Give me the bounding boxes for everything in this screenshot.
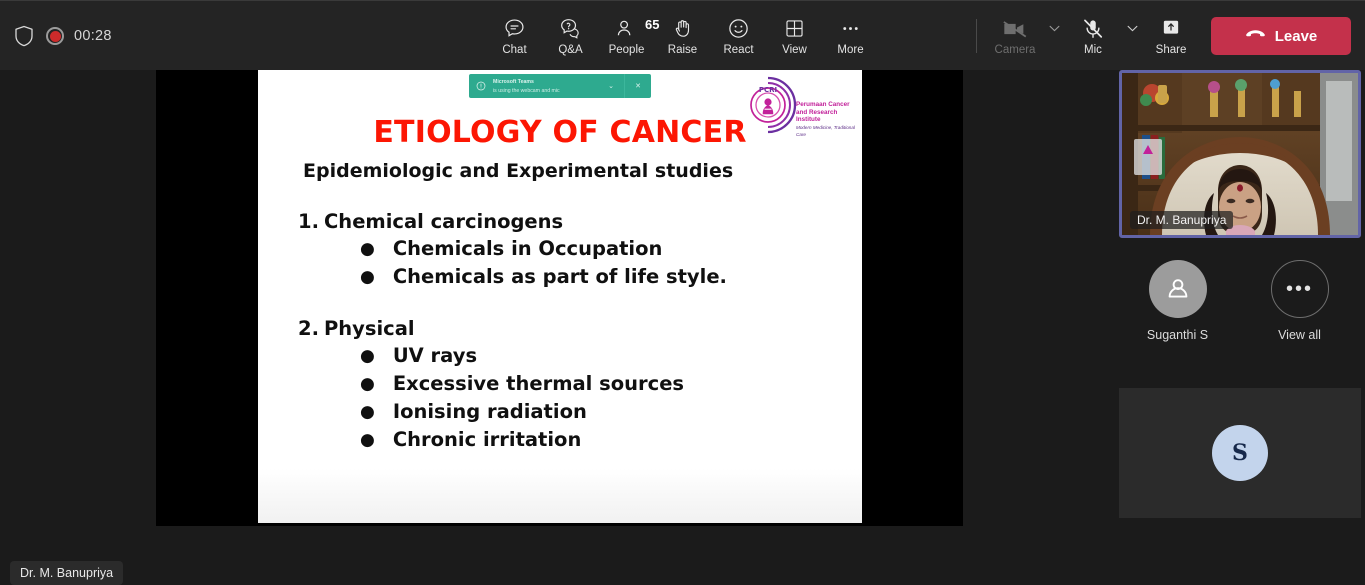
slide-body: 1. Chemical carcinogens ● Chemicals in O… — [298, 210, 838, 454]
person-icon — [1149, 260, 1207, 318]
participant-tile[interactable]: S — [1119, 388, 1361, 518]
more-label: More — [837, 44, 863, 56]
presentation-slide: Microsoft Teams is using the webcam and … — [258, 70, 862, 523]
slide-section-heading: 2. Physical — [298, 317, 838, 340]
bullet-dot-icon: ● — [360, 235, 375, 263]
grid-view-icon — [784, 17, 805, 41]
bullet-text: Chemicals as part of life style. — [393, 263, 727, 291]
mic-muted-icon — [1082, 17, 1104, 41]
people-label: People — [609, 44, 645, 56]
bullet-dot-icon: ● — [360, 398, 375, 426]
people-button[interactable]: 65 People — [599, 8, 655, 64]
question-answer-icon — [559, 17, 582, 41]
slide-bullet: ● UV rays — [360, 342, 838, 370]
slide-bullet: ● Chemicals in Occupation — [360, 235, 838, 263]
raise-hand-icon — [672, 17, 694, 41]
section-title: Chemical carcinogens — [324, 210, 563, 233]
bullet-dot-icon: ● — [360, 342, 375, 370]
share-label: Share — [1156, 44, 1187, 56]
participant-suganthi-s[interactable]: Suganthi S — [1138, 260, 1218, 360]
slide-bullet: ● Chemicals as part of life style. — [360, 263, 838, 291]
slide-bullet: ● Chronic irritation — [360, 426, 838, 454]
toolbar-left-group: 00:28 — [14, 1, 112, 71]
toast-text: Microsoft Teams is using the webcam and … — [493, 77, 598, 95]
camera-label: Camera — [995, 44, 1036, 56]
toolbar-right-group: Camera Mic — [976, 1, 1351, 71]
participant-rail: Dr. M. Banupriya Suganthi S ••• View all… — [1112, 70, 1365, 526]
teams-meeting-window: 00:28 Chat Q&A 65 Peopl — [0, 0, 1365, 526]
chat-button[interactable]: Chat — [487, 8, 543, 64]
smiley-icon — [727, 17, 750, 41]
view-all-label: View all — [1278, 328, 1321, 342]
bullet-dot-icon: ● — [360, 263, 375, 291]
mic-control: Mic — [1065, 8, 1143, 64]
hangup-icon — [1245, 27, 1266, 45]
section-number: 2. — [298, 317, 315, 340]
leave-label: Leave — [1275, 28, 1318, 45]
toast-title: Microsoft Teams — [493, 78, 598, 87]
people-icon: 65 — [615, 17, 638, 41]
camera-control: Camera — [987, 8, 1065, 64]
recording-timer: 00:28 — [74, 28, 112, 44]
section-title: Physical — [324, 317, 415, 340]
view-label: View — [782, 44, 807, 56]
slide-bullet: ● Excessive thermal sources — [360, 370, 838, 398]
camera-chevron-down-icon[interactable] — [1043, 8, 1065, 64]
shield-icon — [14, 25, 34, 47]
webcam-mic-notification-toast: Microsoft Teams is using the webcam and … — [469, 74, 651, 98]
bullet-text: Excessive thermal sources — [393, 370, 684, 398]
share-screen-icon — [1160, 17, 1182, 41]
chat-icon — [503, 17, 526, 41]
mic-button[interactable]: Mic — [1065, 8, 1121, 64]
ellipsis-icon — [839, 17, 862, 41]
bullet-text: Chemicals in Occupation — [393, 235, 663, 263]
mic-label: Mic — [1084, 44, 1102, 56]
bullet-dot-icon: ● — [360, 426, 375, 454]
section-spacer — [298, 291, 838, 317]
view-button[interactable]: View — [767, 8, 823, 64]
share-button[interactable]: Share — [1143, 8, 1199, 64]
bullet-dot-icon: ● — [360, 370, 375, 398]
qa-label: Q&A — [558, 44, 582, 56]
slide-section-heading: 1. Chemical carcinogens — [298, 210, 838, 233]
svg-text:PCRI: PCRI — [759, 86, 777, 94]
camera-button[interactable]: Camera — [987, 8, 1043, 64]
more-button[interactable]: More — [823, 8, 879, 64]
bullet-text: UV rays — [393, 342, 477, 370]
mic-chevron-down-icon[interactable] — [1121, 8, 1143, 64]
avatar: S — [1212, 425, 1268, 481]
slide-bullet: ● Ionising radiation — [360, 398, 838, 426]
slide-subtitle: Epidemiologic and Experimental studies — [303, 160, 733, 182]
participant-avatars: Suganthi S ••• View all — [1112, 260, 1365, 360]
toast-close-icon[interactable]: ✕ — [625, 82, 651, 90]
section-number: 1. — [298, 210, 315, 233]
view-all-participants-button[interactable]: ••• View all — [1260, 260, 1340, 360]
record-icon — [46, 27, 64, 45]
presenter-name-label: Dr. M. Banupriya — [10, 561, 123, 585]
leave-button[interactable]: Leave — [1211, 17, 1351, 55]
toast-chevron-down-icon[interactable]: ⌄ — [598, 82, 624, 90]
video-tile-name: Dr. M. Banupriya — [1130, 211, 1233, 229]
raise-hand-button[interactable]: Raise — [655, 8, 711, 64]
info-icon — [469, 81, 493, 91]
chat-label: Chat — [502, 44, 526, 56]
ellipsis-icon: ••• — [1271, 260, 1329, 318]
toast-message: is using the webcam and mic — [493, 87, 598, 96]
bullet-text: Chronic irritation — [393, 426, 582, 454]
toolbar-divider — [976, 19, 977, 53]
qa-button[interactable]: Q&A — [543, 8, 599, 64]
react-label: React — [723, 44, 753, 56]
shared-screen-frame[interactable]: Microsoft Teams is using the webcam and … — [156, 70, 963, 526]
participant-name: Suganthi S — [1147, 328, 1208, 342]
active-speaker-video-tile[interactable]: Dr. M. Banupriya — [1119, 70, 1361, 238]
raise-hand-label: Raise — [668, 44, 697, 56]
meeting-stage: Microsoft Teams is using the webcam and … — [0, 70, 1112, 526]
recording-indicator: 00:28 — [46, 27, 112, 45]
react-button[interactable]: React — [711, 8, 767, 64]
bullet-text: Ionising radiation — [393, 398, 587, 426]
camera-off-icon — [1002, 17, 1028, 41]
meeting-toolbar: 00:28 Chat Q&A 65 Peopl — [0, 0, 1365, 70]
slide-title: ETIOLOGY OF CANCER — [258, 115, 862, 150]
